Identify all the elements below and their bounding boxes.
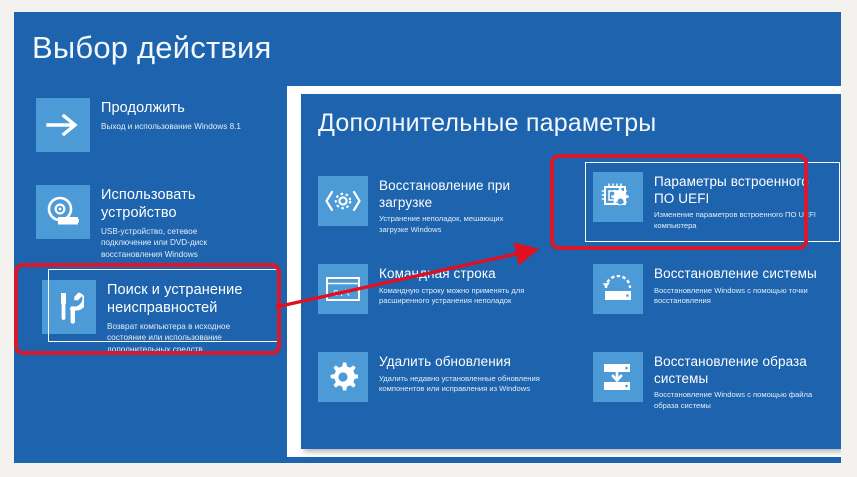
advanced-item-text: Удалить обновления Удалить недавно устан… <box>368 352 540 395</box>
advanced-item-text: Восстановление при загрузке Устранение н… <box>368 176 534 235</box>
arrow-right-icon <box>36 98 90 152</box>
action-item-title: Использовать устройство <box>101 187 242 223</box>
restore-clock-icon <box>593 264 643 314</box>
advanced-item-system-restore[interactable]: Восстановление системы Восстановление Wi… <box>593 264 833 314</box>
action-item-text: Использовать устройство USB-устройство, … <box>90 185 242 260</box>
advanced-options-body: Дополнительные параметры <box>301 94 841 449</box>
gear-icon <box>318 352 368 402</box>
advanced-options-panel: Дополнительные параметры <box>287 86 841 457</box>
annotation-box-troubleshoot <box>14 263 281 355</box>
advanced-item-title: Восстановление при загрузке <box>379 178 534 211</box>
advanced-item-subtitle: Командную строку можно применять для рас… <box>379 286 540 307</box>
advanced-item-subtitle: Удалить недавно установленные обновления… <box>379 374 540 395</box>
advanced-item-text: Восстановление образа системы Восстановл… <box>643 352 821 411</box>
action-item-title: Продолжить <box>101 100 241 118</box>
screenshot-root: Выбор действия Продолжить Выход и исполь… <box>0 0 857 477</box>
advanced-item-text: Восстановление системы Восстановление Wi… <box>643 264 821 307</box>
action-item-use-device[interactable]: Использовать устройство USB-устройство, … <box>36 185 286 260</box>
advanced-item-text: Командная строка Командную строку можно … <box>368 264 540 307</box>
page-title: Выбор действия <box>32 30 272 66</box>
action-item-subtitle: USB-устройство, сетевое подключение или … <box>101 226 242 260</box>
advanced-item-subtitle: Восстановление Windows с помощью точки в… <box>654 286 821 307</box>
advanced-item-title: Командная строка <box>379 266 540 283</box>
advanced-item-uninstall-updates[interactable]: Удалить обновления Удалить недавно устан… <box>318 352 548 402</box>
disc-usb-icon <box>36 185 90 239</box>
advanced-item-title: Восстановление системы <box>654 266 821 283</box>
action-item-continue[interactable]: Продолжить Выход и использование Windows… <box>36 98 286 152</box>
advanced-item-subtitle: Восстановление Windows с помощью файла о… <box>654 390 821 411</box>
advanced-item-subtitle: Устранение неполадок, мешающих загрузке … <box>379 214 534 235</box>
action-item-subtitle: Выход и использование Windows 8.1 <box>101 121 241 132</box>
advanced-item-title: Восстановление образа системы <box>654 354 821 387</box>
advanced-options-title: Дополнительные параметры <box>318 109 656 138</box>
command-prompt-icon: C:\ <box>318 264 368 314</box>
recovery-screen: Выбор действия Продолжить Выход и исполь… <box>14 12 841 463</box>
gear-brackets-icon <box>318 176 368 226</box>
advanced-item-startup-repair[interactable]: Восстановление при загрузке Устранение н… <box>318 176 548 235</box>
svg-text:C:\: C:\ <box>333 288 350 299</box>
advanced-item-command-prompt[interactable]: C:\ Командная строка Командную строку мо… <box>318 264 548 314</box>
image-restore-icon <box>593 352 643 402</box>
advanced-item-title: Удалить обновления <box>379 354 540 371</box>
advanced-item-system-image-recovery[interactable]: Восстановление образа системы Восстановл… <box>593 352 833 411</box>
action-item-text: Продолжить Выход и использование Windows… <box>90 98 241 132</box>
annotation-box-uefi <box>550 154 808 250</box>
